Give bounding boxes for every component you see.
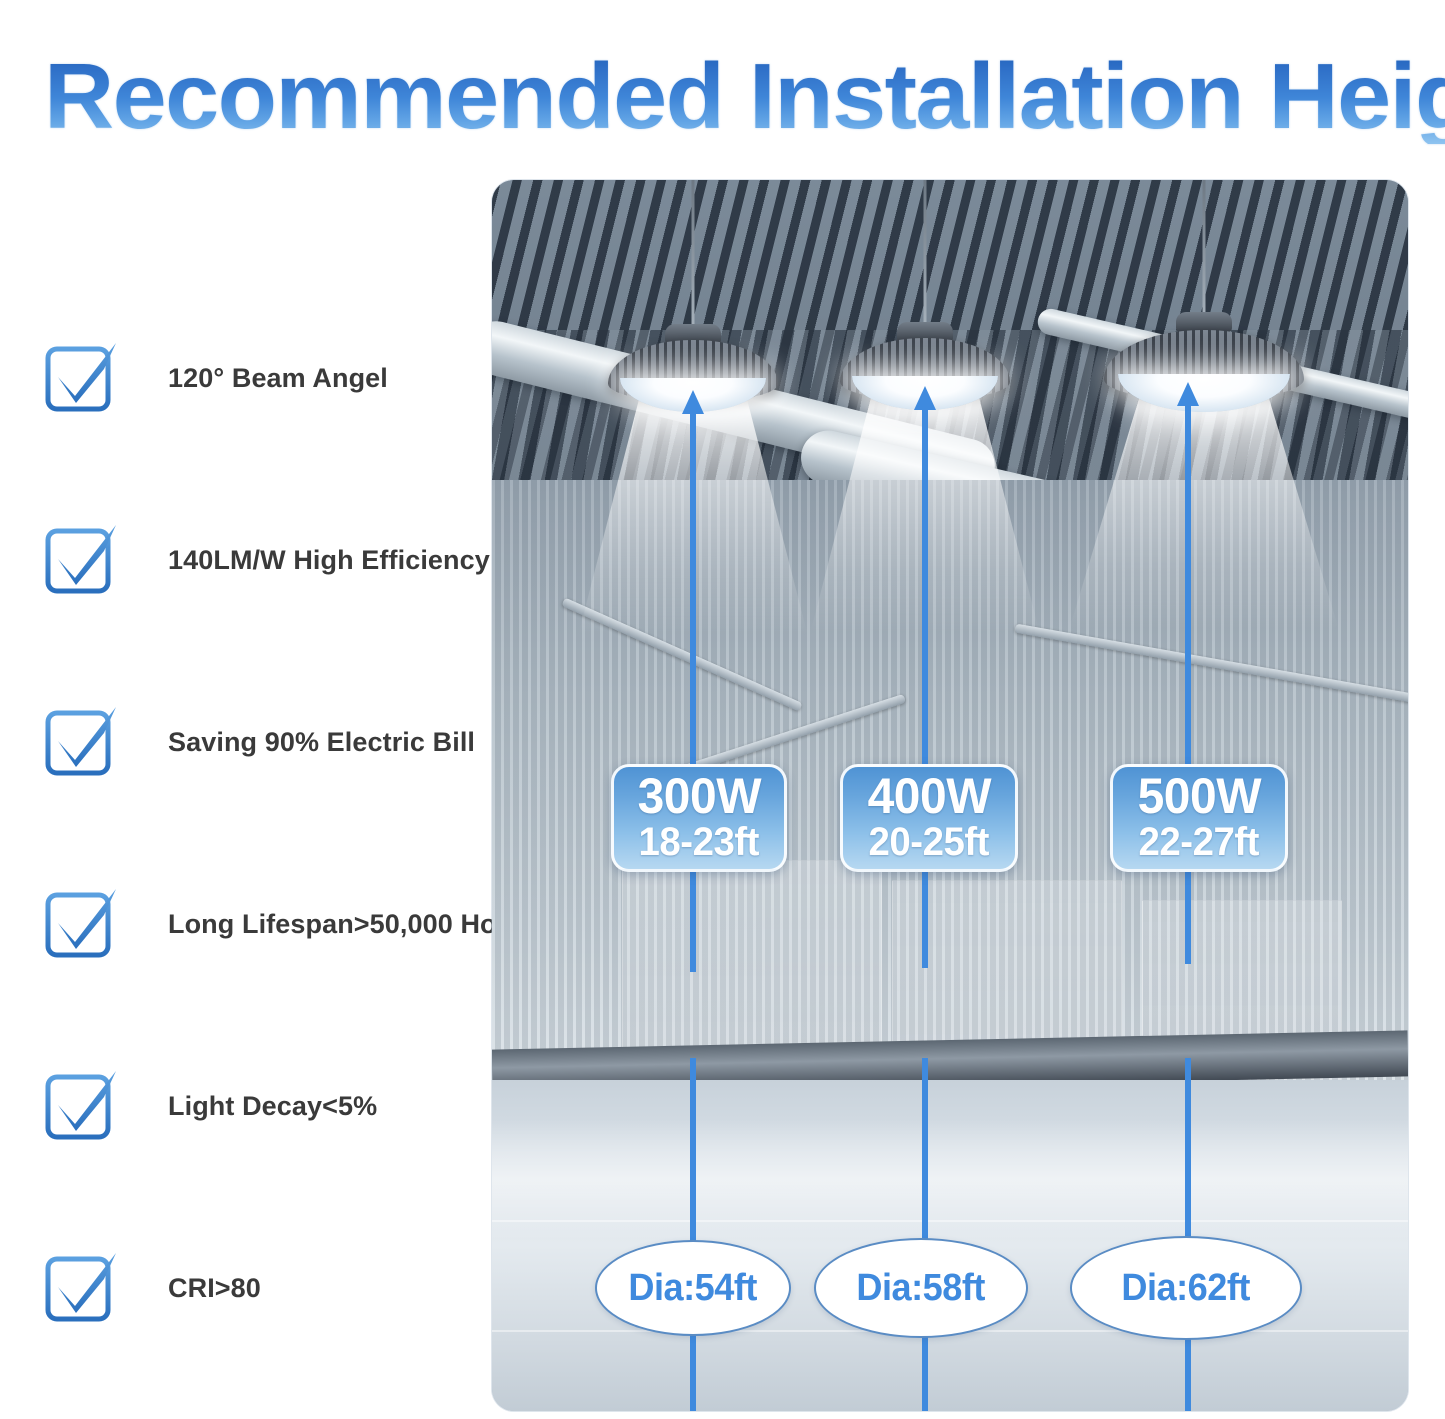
fixture-cap — [1176, 312, 1232, 332]
hanging-chain — [1203, 180, 1206, 332]
wattage-badge-400w: 400W 20-25ft — [840, 764, 1018, 872]
height-arrow-down-3 — [1185, 1058, 1191, 1411]
badge-height-value: 18-23ft — [639, 821, 759, 863]
coverage-ellipse-58ft: Dia:58ft — [814, 1238, 1028, 1338]
feature-label: Saving 90% Electric Bill — [168, 727, 475, 758]
coverage-diameter-label: Dia:62ft — [1122, 1267, 1251, 1310]
feature-label: Long Lifespan>50,000 Hours — [168, 909, 539, 940]
checkbox-check-icon — [44, 341, 118, 415]
badge-height-value: 22-27ft — [1139, 821, 1259, 863]
height-arrow-down-2 — [922, 1058, 928, 1411]
checkbox-check-icon — [44, 523, 118, 597]
floor-reflection — [492, 1120, 1408, 1240]
coverage-diameter-label: Dia:58ft — [857, 1267, 986, 1310]
badge-wattage-value: 300W — [637, 771, 760, 821]
coverage-ellipse-54ft: Dia:54ft — [595, 1240, 791, 1336]
feature-label: 140LM/W High Efficiency — [168, 545, 490, 576]
checkbox-check-icon — [44, 887, 118, 961]
height-arrow-up-1 — [690, 412, 696, 972]
feature-label: Light Decay<5% — [168, 1091, 377, 1122]
hanging-chain — [924, 180, 927, 338]
feature-label: CRI>80 — [168, 1273, 261, 1304]
checkbox-check-icon — [44, 1069, 118, 1143]
feature-item-electric-bill: Saving 90% Electric Bill — [44, 694, 475, 790]
badge-wattage-value: 400W — [867, 771, 990, 821]
feature-item-efficiency: 140LM/W High Efficiency — [44, 512, 490, 608]
coverage-diameter-label: Dia:54ft — [629, 1267, 758, 1310]
floor-seam — [492, 1220, 1408, 1222]
feature-item-beam-angle: 120° Beam Angel — [44, 330, 388, 426]
wattage-badge-300w: 300W 18-23ft — [611, 764, 787, 872]
coverage-ellipse-62ft: Dia:62ft — [1070, 1236, 1302, 1340]
warehouse-photo: 300W 18-23ft 400W 20-25ft 500W 22-27ft D… — [492, 180, 1408, 1411]
feature-item-light-decay: Light Decay<5% — [44, 1058, 377, 1154]
feature-label: 120° Beam Angel — [168, 363, 388, 394]
feature-item-lifespan: Long Lifespan>50,000 Hours — [44, 876, 539, 972]
height-arrow-down-1 — [690, 1058, 696, 1411]
page-title: Recommended Installation Height — [44, 48, 1445, 144]
hanging-chain — [692, 180, 695, 340]
height-arrow-up-3 — [1185, 404, 1191, 964]
checkbox-check-icon — [44, 1251, 118, 1325]
badge-height-value: 20-25ft — [869, 821, 989, 863]
infographic-root: Recommended Installation Height 120° Bea… — [0, 0, 1445, 1419]
checkbox-check-icon — [44, 705, 118, 779]
wattage-badge-500w: 500W 22-27ft — [1110, 764, 1288, 872]
feature-item-cri: CRI>80 — [44, 1240, 261, 1336]
height-arrow-up-2 — [922, 408, 928, 968]
badge-wattage-value: 500W — [1137, 771, 1260, 821]
